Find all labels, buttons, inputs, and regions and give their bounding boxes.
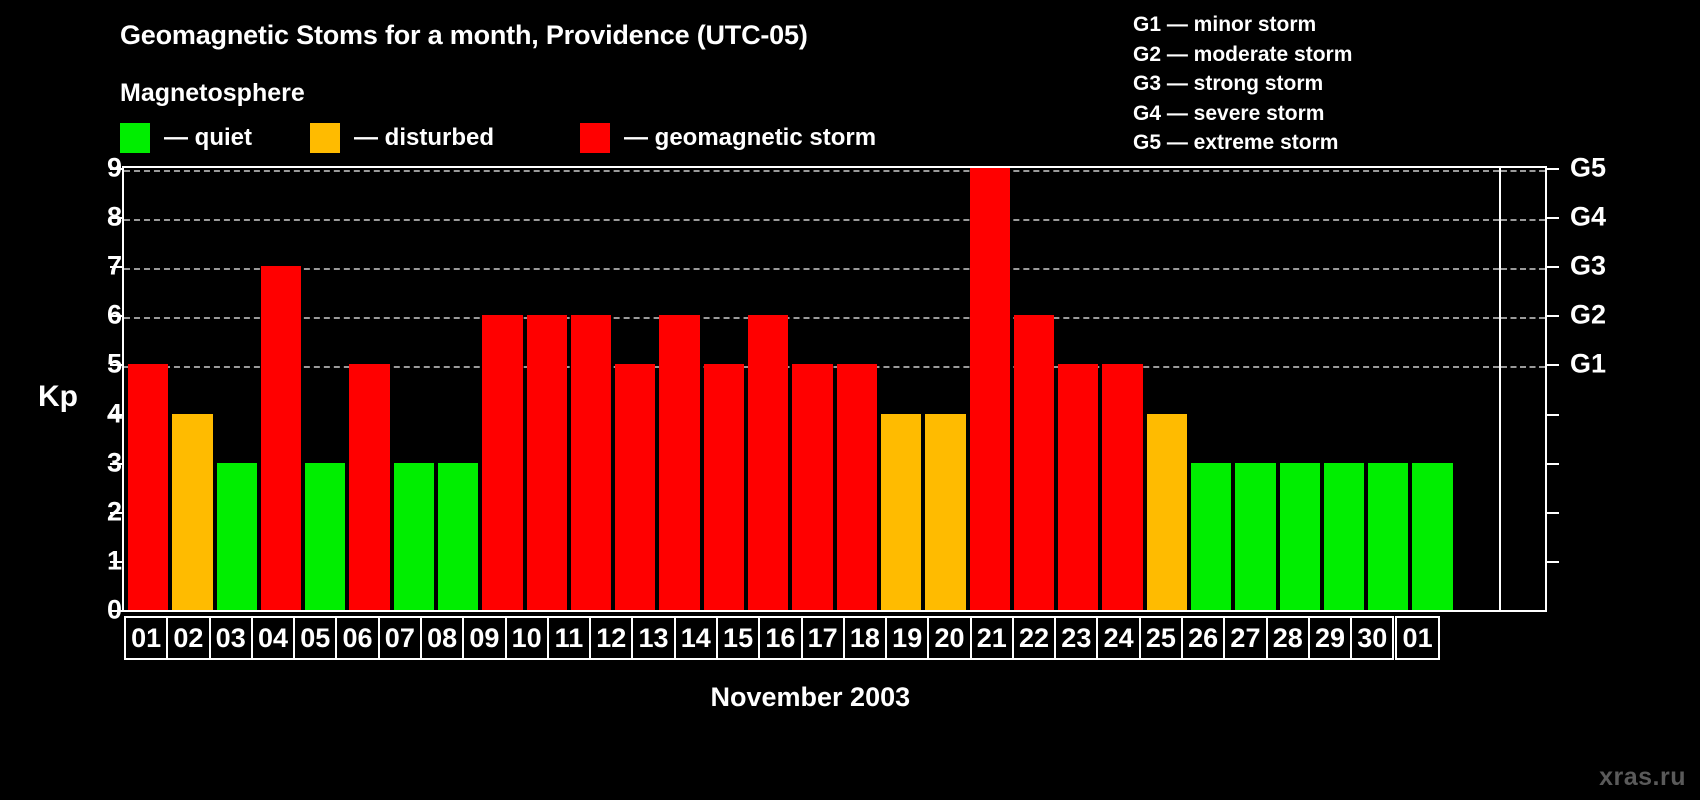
gridline-trailing-kp-7 (1501, 268, 1545, 270)
bars-container (126, 168, 1497, 610)
bar-day-06 (349, 364, 389, 610)
x-axis-day-16: 17 (801, 616, 845, 660)
legend-heading: Magnetosphere (120, 79, 305, 108)
g-minor-tick-1 (1547, 561, 1559, 563)
bar-day-24 (1147, 414, 1187, 610)
g-tick-label-G3: G3 (1570, 251, 1606, 282)
bar-day-29 (1368, 463, 1408, 610)
x-axis-day-17: 18 (843, 616, 887, 660)
g-tick-label-G4: G4 (1570, 202, 1606, 233)
g-minor-tick-3 (1547, 463, 1559, 465)
legend-label: — quiet (164, 124, 252, 152)
bar-day-17 (837, 364, 877, 610)
g-tick-mark-G2 (1547, 315, 1559, 317)
g-tick-mark-G1 (1547, 364, 1559, 366)
legend-item-disturbed: — disturbed (310, 122, 494, 154)
x-axis-day-5: 06 (335, 616, 379, 660)
y-axis-label: Kp (38, 380, 78, 414)
bar-day-02 (172, 414, 212, 610)
legend-label: — disturbed (354, 124, 494, 152)
bar-day-19 (925, 414, 965, 610)
x-axis-day-10: 11 (547, 616, 591, 660)
legend-swatch-disturbed-icon (310, 123, 340, 153)
g-scale-row-5: G5 — extreme storm (1133, 128, 1352, 158)
x-axis-day-11: 12 (589, 616, 633, 660)
bar-day-20 (970, 168, 1010, 610)
y-tick-mark-8 (110, 217, 122, 219)
g-minor-tick-4 (1547, 414, 1559, 416)
gridline-trailing-kp-8 (1501, 219, 1545, 221)
g-tick-label-G1: G1 (1570, 349, 1606, 380)
g-scale-row-2: G2 — moderate storm (1133, 40, 1352, 70)
x-axis-day-13: 14 (674, 616, 718, 660)
gridline-trailing-kp-6 (1501, 317, 1545, 319)
x-axis-day-30: 01 (1395, 616, 1439, 660)
bar-day-14 (704, 364, 744, 610)
bar-day-21 (1014, 315, 1054, 610)
x-axis-day-28: 29 (1308, 616, 1352, 660)
x-axis-day-0: 01 (124, 616, 168, 660)
x-axis-day-22: 23 (1054, 616, 1098, 660)
legend-swatch-quiet-icon (120, 123, 150, 153)
x-axis-day-26: 27 (1223, 616, 1267, 660)
x-axis-day-7: 08 (420, 616, 464, 660)
g-tick-mark-G5 (1547, 168, 1559, 170)
y-tick-mark-4 (110, 414, 122, 416)
x-axis-day-29: 30 (1350, 616, 1394, 660)
bar-day-08 (438, 463, 478, 610)
bar-day-03 (217, 463, 257, 610)
y-tick-mark-5 (110, 364, 122, 366)
y-tick-mark-0 (110, 610, 122, 612)
bar-day-13 (659, 315, 699, 610)
bar-day-30 (1412, 463, 1452, 610)
bar-day-18 (881, 414, 921, 610)
x-axis-label: November 2003 (711, 682, 911, 713)
page-title: Geomagnetic Stoms for a month, Providenc… (120, 20, 808, 51)
y-tick-mark-2 (110, 512, 122, 514)
x-axis-day-6: 07 (378, 616, 422, 660)
y-tick-mark-9 (110, 168, 122, 170)
x-axis-day-19: 20 (927, 616, 971, 660)
g-minor-tick-2 (1547, 512, 1559, 514)
bar-day-25 (1191, 463, 1231, 610)
plot-area-trailing (1499, 166, 1547, 612)
x-axis-day-3: 04 (251, 616, 295, 660)
x-axis-day-4: 05 (293, 616, 337, 660)
y-tick-mark-3 (110, 463, 122, 465)
bar-day-07 (394, 463, 434, 610)
x-axis-day-12: 13 (631, 616, 675, 660)
bar-day-04 (261, 266, 301, 610)
g-scale-legend: G1 — minor stormG2 — moderate stormG3 — … (1133, 10, 1352, 158)
bar-day-12 (615, 364, 655, 610)
legend-item-quiet: — quiet (120, 122, 252, 154)
x-axis-day-20: 21 (970, 616, 1014, 660)
x-axis-day-1: 02 (166, 616, 210, 660)
y-tick-mark-6 (110, 315, 122, 317)
bar-day-01 (128, 364, 168, 610)
g-tick-label-G5: G5 (1570, 153, 1606, 184)
x-axis-day-9: 10 (505, 616, 549, 660)
x-axis-day-18: 19 (885, 616, 929, 660)
y-tick-mark-7 (110, 266, 122, 268)
g-scale-row-3: G3 — strong storm (1133, 69, 1352, 99)
bar-day-11 (571, 315, 611, 610)
bar-day-28 (1324, 463, 1364, 610)
x-axis-day-2: 03 (209, 616, 253, 660)
gridline-trailing-kp-9 (1501, 170, 1545, 172)
legend-label: — geomagnetic storm (624, 124, 876, 152)
g-tick-mark-G4 (1547, 217, 1559, 219)
legend-swatch-storm-icon (580, 123, 610, 153)
x-axis-day-labels: 0102030405060708091011121314151617181920… (124, 616, 1438, 660)
legend-item-storm: — geomagnetic storm (580, 122, 876, 154)
bar-day-26 (1235, 463, 1275, 610)
x-axis-day-15: 16 (758, 616, 802, 660)
bar-day-27 (1280, 463, 1320, 610)
bar-day-15 (748, 315, 788, 610)
bar-day-10 (527, 315, 567, 610)
x-axis-day-21: 22 (1012, 616, 1056, 660)
gridline-trailing-kp-5 (1501, 366, 1545, 368)
g-tick-label-G2: G2 (1570, 300, 1606, 331)
x-axis-day-27: 28 (1266, 616, 1310, 660)
bar-day-23 (1102, 364, 1142, 610)
g-scale-row-4: G4 — severe storm (1133, 99, 1352, 129)
x-axis-day-23: 24 (1096, 616, 1140, 660)
g-scale-row-1: G1 — minor storm (1133, 10, 1352, 40)
y-tick-mark-1 (110, 561, 122, 563)
bar-day-09 (482, 315, 522, 610)
watermark: xras.ru (1599, 763, 1686, 792)
g-tick-mark-G3 (1547, 266, 1559, 268)
x-axis-day-14: 15 (716, 616, 760, 660)
x-axis-day-24: 25 (1139, 616, 1183, 660)
x-axis-day-8: 09 (462, 616, 506, 660)
bar-day-16 (792, 364, 832, 610)
bar-day-22 (1058, 364, 1098, 610)
bar-day-05 (305, 463, 345, 610)
x-axis-day-25: 26 (1181, 616, 1225, 660)
geomagnetic-storm-chart: Geomagnetic Stoms for a month, Providenc… (0, 0, 1700, 800)
